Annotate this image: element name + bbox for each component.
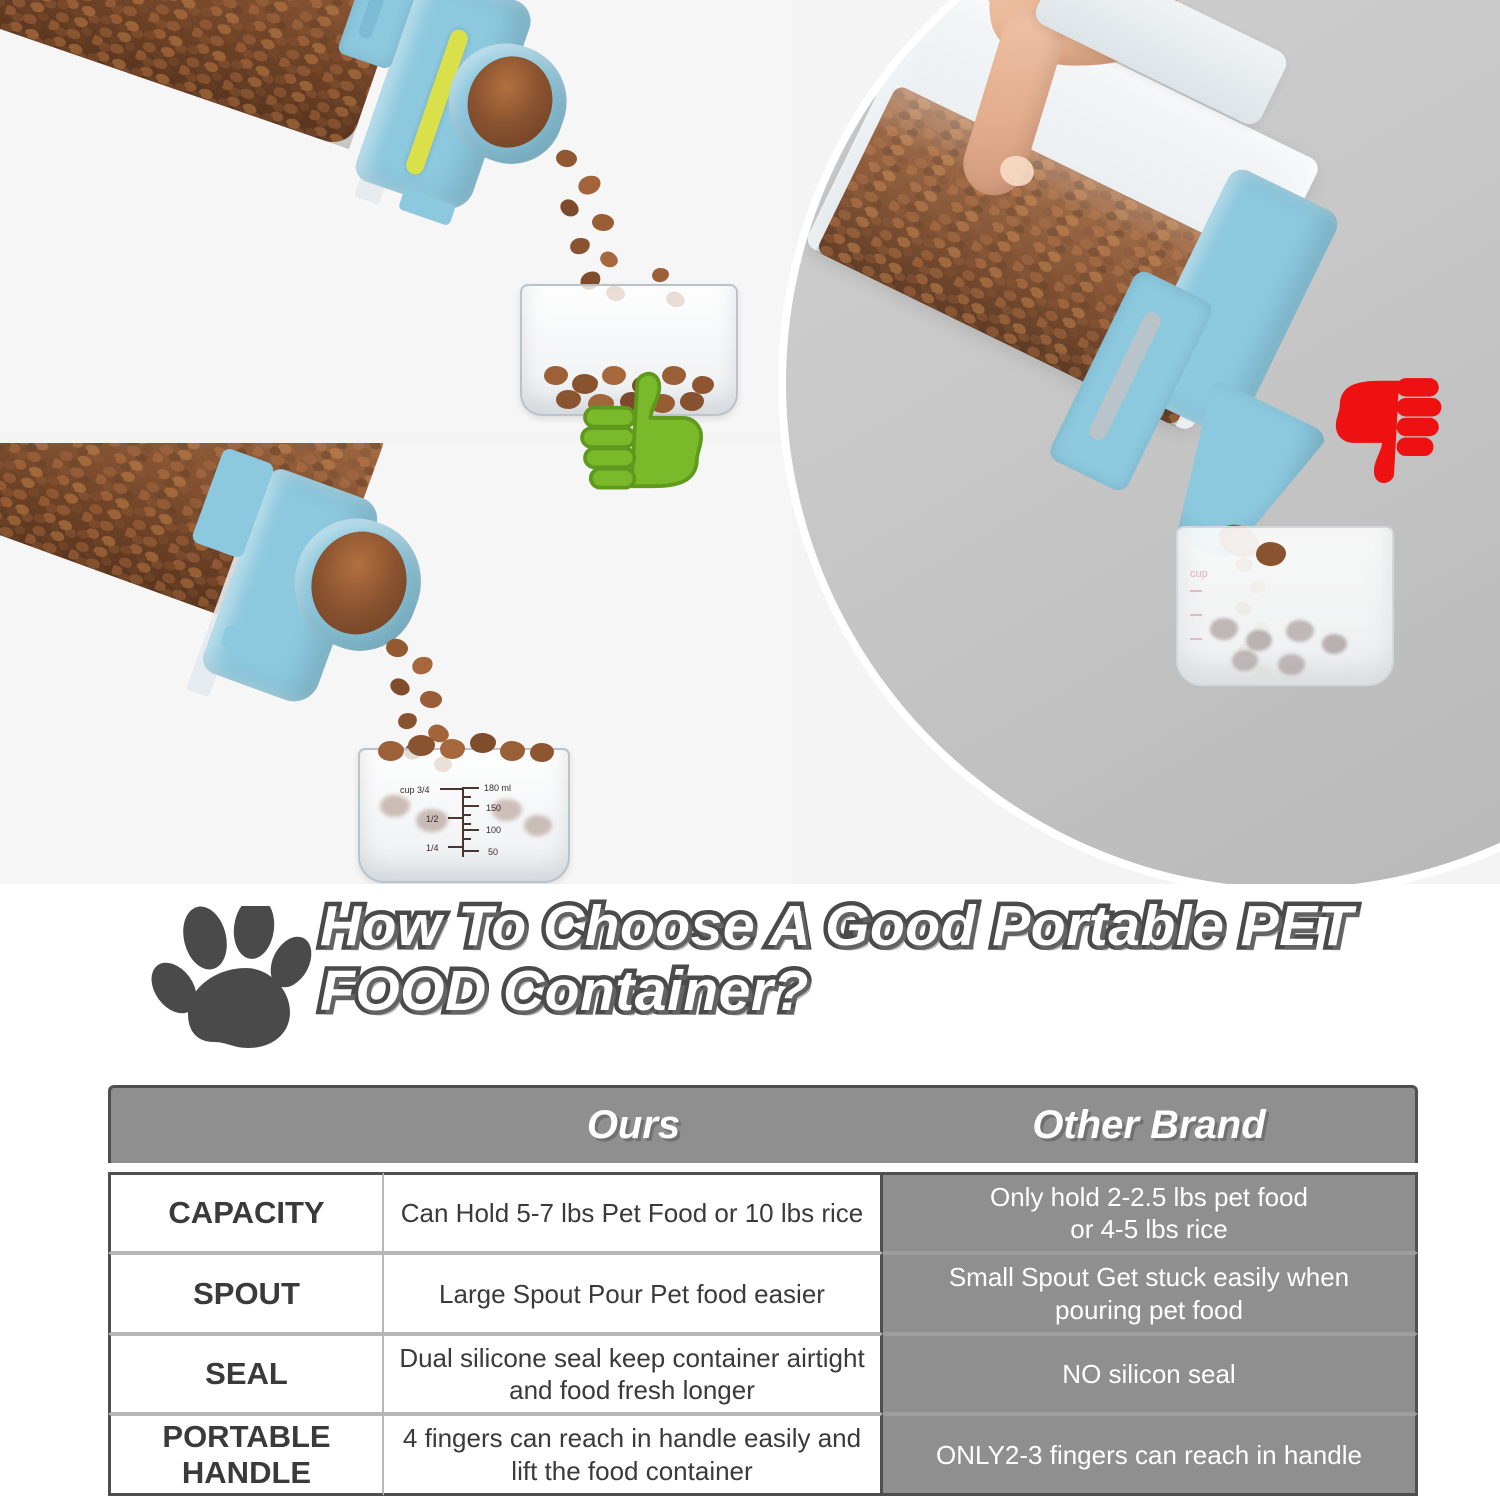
cup-tick — [1190, 638, 1202, 640]
paw-print-icon — [150, 906, 320, 1056]
comparison-table-wrapper: Ours Other Brand CAPACITY Can Hold 5-7 l… — [108, 1085, 1418, 1496]
title-section: How To Choose A Good Portable PET FOOD C… — [0, 884, 1500, 1084]
cup-label-180ml: 180 ml — [484, 783, 511, 793]
table-header-row: Ours Other Brand — [108, 1085, 1418, 1163]
thumbs-down-icon — [1320, 366, 1452, 488]
kibble-piece — [591, 213, 615, 233]
row-other-capacity: Only hold 2-2.5 lbs pet foodor 4-5 lbs r… — [883, 1172, 1418, 1253]
kibble-piece — [384, 637, 410, 660]
ours-pouring-photo — [0, 0, 792, 430]
row-ours-portable-handle: 4 fingers can reach in handle easily and… — [384, 1414, 883, 1495]
thumbs-up-icon — [572, 370, 720, 492]
header-spacer — [108, 1163, 1418, 1172]
table-row: SEAL Dual silicone seal keep container a… — [108, 1334, 1418, 1414]
row-other-portable-handle: ONLY2-3 fingers can reach in handle — [883, 1414, 1418, 1495]
row-other-spout: Small Spout Get stuck easily whenpouring… — [883, 1253, 1418, 1333]
page-title-line1: How To Choose A Good Portable PET — [320, 894, 1353, 958]
cup-label-12: 1/2 — [426, 814, 439, 824]
table-body: CAPACITY Can Hold 5-7 lbs Pet Food or 10… — [108, 1172, 1418, 1496]
row-other-seal: NO silicon seal — [883, 1334, 1418, 1414]
cup-scale-text: cup — [1190, 568, 1208, 580]
table-row: CAPACITY Can Hold 5-7 lbs Pet Food or 10… — [108, 1172, 1418, 1253]
cup-graduations: cup 3/4 1/2 1/4 180 ml 150 100 50 — [400, 783, 550, 873]
row-feature-portable-handle: PORTABLEHANDLE — [108, 1414, 384, 1495]
page-title-line2: FOOD Container? — [320, 959, 809, 1023]
header-ours: Ours — [384, 1085, 883, 1163]
table-row: PORTABLEHANDLE 4 fingers can reach in ha… — [108, 1414, 1418, 1495]
comparison-table: Ours Other Brand CAPACITY Can Hold 5-7 l… — [108, 1085, 1418, 1496]
row-ours-seal: Dual silicone seal keep container airtig… — [384, 1334, 883, 1414]
kibble-piece — [419, 690, 443, 709]
cup-tick — [1190, 614, 1202, 616]
row-feature-seal: SEAL — [108, 1334, 384, 1414]
cup-label-100: 100 — [486, 825, 501, 835]
cup-label-34: cup 3/4 — [400, 785, 430, 795]
cup-label-50: 50 — [488, 847, 498, 857]
page-title: How To Choose A Good Portable PET FOOD C… — [320, 894, 1440, 1024]
cup-label-150: 150 — [486, 803, 501, 813]
kibble-piece — [598, 249, 621, 271]
header-feature — [108, 1085, 384, 1163]
kibble-piece — [554, 148, 578, 169]
kibble-piece — [397, 711, 419, 731]
kibble-piece — [387, 675, 412, 699]
row-ours-capacity: Can Hold 5-7 lbs Pet Food or 10 lbs rice — [384, 1172, 883, 1253]
cup-tick — [1190, 590, 1202, 592]
photo-collage: cup 3/4 1/2 1/4 180 ml 150 100 50 — [0, 0, 1500, 884]
kibble-piece — [575, 172, 603, 197]
kibble-piece — [410, 654, 436, 677]
header-other-brand: Other Brand — [883, 1085, 1418, 1163]
row-feature-capacity: CAPACITY — [108, 1172, 384, 1253]
kibble-piece — [568, 236, 591, 256]
kibble-piece — [557, 196, 582, 220]
row-feature-spout: SPOUT — [108, 1253, 384, 1333]
table-row: SPOUT Large Spout Pour Pet food easier S… — [108, 1253, 1418, 1333]
row-ours-spout: Large Spout Pour Pet food easier — [384, 1253, 883, 1333]
cup-label-14: 1/4 — [426, 843, 439, 853]
kibble-piece — [651, 267, 670, 283]
ours-measuring-cup-photo: cup 3/4 1/2 1/4 180 ml 150 100 50 — [0, 443, 792, 884]
